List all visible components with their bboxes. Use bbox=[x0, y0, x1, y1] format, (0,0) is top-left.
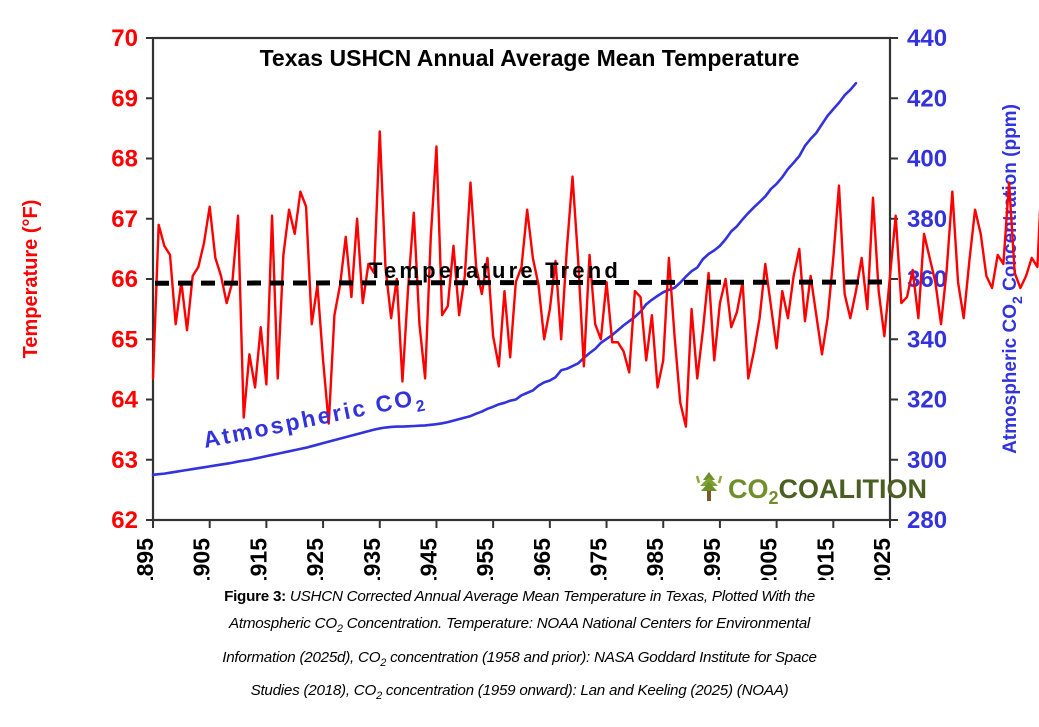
co2-coalition-logo: CO2COALITION bbox=[697, 472, 927, 508]
caption-text-4a: Studies (2018), CO bbox=[251, 682, 377, 699]
x-axis-tick-label: 1915 bbox=[245, 538, 271, 580]
x-axis-tick-label: 1895 bbox=[132, 538, 158, 580]
y-axis-right-tick-label: 280 bbox=[907, 507, 947, 534]
x-axis-tick-label: 2025 bbox=[869, 538, 895, 580]
logo-text: CO2COALITION bbox=[728, 474, 927, 508]
y-axis-right-tick-label: 300 bbox=[907, 447, 947, 474]
caption-line-1: Figure 3: USHCN Corrected Annual Average… bbox=[28, 583, 1011, 610]
caption-line-2: Atmospheric CO2 Concentration. Temperatu… bbox=[28, 610, 1011, 643]
y-axis-right-tick-label: 340 bbox=[907, 326, 947, 353]
x-axis-tick-label: 1955 bbox=[472, 538, 498, 580]
y-axis-left-tick-label: 66 bbox=[111, 266, 138, 293]
y-axis-left-tick-label: 65 bbox=[111, 326, 138, 353]
y-axis-left-tick-label: 68 bbox=[111, 146, 138, 173]
caption-text-4c: concentration (1959 onward): Lan and Kee… bbox=[382, 682, 789, 699]
x-axis-tick-label: 1945 bbox=[415, 538, 441, 580]
x-axis-tick-label: 2015 bbox=[812, 538, 838, 580]
x-axis-tick-label: 1965 bbox=[529, 538, 555, 580]
caption-figure-number: Figure 3: bbox=[224, 588, 286, 605]
y-axis-right-tick-label: 440 bbox=[907, 25, 947, 52]
chart-title: Texas USHCN Annual Average Mean Temperat… bbox=[260, 45, 800, 71]
x-axis-tick-label: 1905 bbox=[189, 538, 215, 580]
y-axis-right-tick-label: 420 bbox=[907, 85, 947, 112]
y-axis-left-tick-label: 69 bbox=[111, 85, 138, 112]
y-axis-left-tick-label: 62 bbox=[111, 507, 138, 534]
x-axis-tick-label: 1995 bbox=[699, 538, 725, 580]
x-axis-tick-label: 1925 bbox=[302, 538, 328, 580]
figure-caption: Figure 3: USHCN Corrected Annual Average… bbox=[28, 583, 1011, 711]
x-axis-tick-label: 1985 bbox=[642, 538, 668, 580]
y-axis-left-tick-label: 70 bbox=[111, 25, 138, 52]
caption-text-3c: concentration (1958 and prior): NASA God… bbox=[386, 649, 817, 666]
x-axis-tick-label: 1935 bbox=[359, 538, 385, 580]
caption-text-3a: Information (2025d), CO bbox=[222, 649, 380, 666]
y-axis-left-tick-label: 63 bbox=[111, 447, 138, 474]
caption-text-2c: Concentration. Temperature: NOAA Nationa… bbox=[343, 615, 810, 632]
y-axis-left-tick-label: 64 bbox=[111, 387, 138, 414]
caption-text-2a: Atmospheric CO bbox=[229, 615, 337, 632]
y-axis-right-tick-label: 380 bbox=[907, 206, 947, 233]
y-axis-right-tick-label: 320 bbox=[907, 387, 947, 414]
chart-canvas: 626364656667686970Temperature (°F) 28030… bbox=[0, 0, 1039, 580]
y-axis-left-title: Temperature (°F) bbox=[20, 200, 42, 359]
x-axis-tick-label: 1975 bbox=[586, 538, 612, 580]
figure-root: 626364656667686970Temperature (°F) 28030… bbox=[0, 0, 1039, 727]
caption-line-4: Studies (2018), CO2 concentration (1959 … bbox=[28, 677, 1011, 710]
x-axis-tick-label: 2005 bbox=[756, 538, 782, 580]
y-axis-left-tick-label: 67 bbox=[111, 206, 138, 233]
caption-line-3: Information (2025d), CO2 concentration (… bbox=[28, 644, 1011, 677]
y-axis-right-tick-label: 400 bbox=[907, 146, 947, 173]
temperature-trend-label: Temperature Trend bbox=[369, 258, 621, 283]
caption-text-1: USHCN Corrected Annual Average Mean Temp… bbox=[286, 588, 815, 605]
